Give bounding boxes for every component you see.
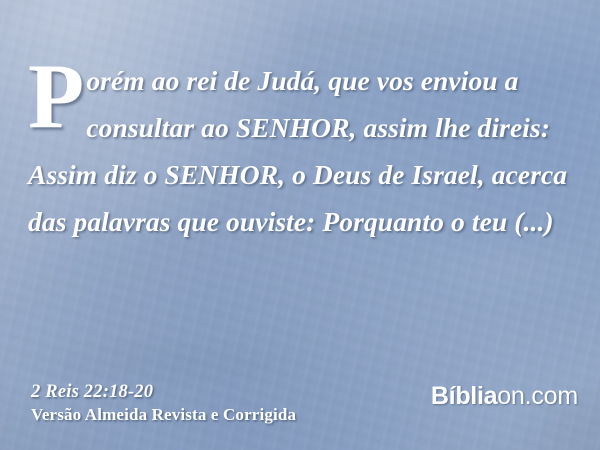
bible-verse-card: Porém ao rei de Judá, que vos enviou a c… bbox=[0, 0, 600, 450]
bibliaon-logo[interactable]: Bíbliaon.com bbox=[431, 382, 578, 410]
verse-body-text: orém ao rei de Judá, que vos enviou a co… bbox=[28, 65, 567, 237]
verse-reference: 2 Reis 22:18-20 bbox=[31, 381, 296, 403]
verse-drop-cap: P bbox=[28, 57, 84, 135]
logo-bold-text: Bíblia bbox=[431, 382, 497, 410]
verse-text-block: Porém ao rei de Judá, que vos enviou a c… bbox=[28, 57, 576, 245]
verse-citation-block: 2 Reis 22:18-20 Versão Almeida Revista e… bbox=[31, 381, 296, 427]
bible-version-label: Versão Almeida Revista e Corrigida bbox=[31, 403, 296, 427]
logo-light-text: on.com bbox=[497, 382, 578, 410]
